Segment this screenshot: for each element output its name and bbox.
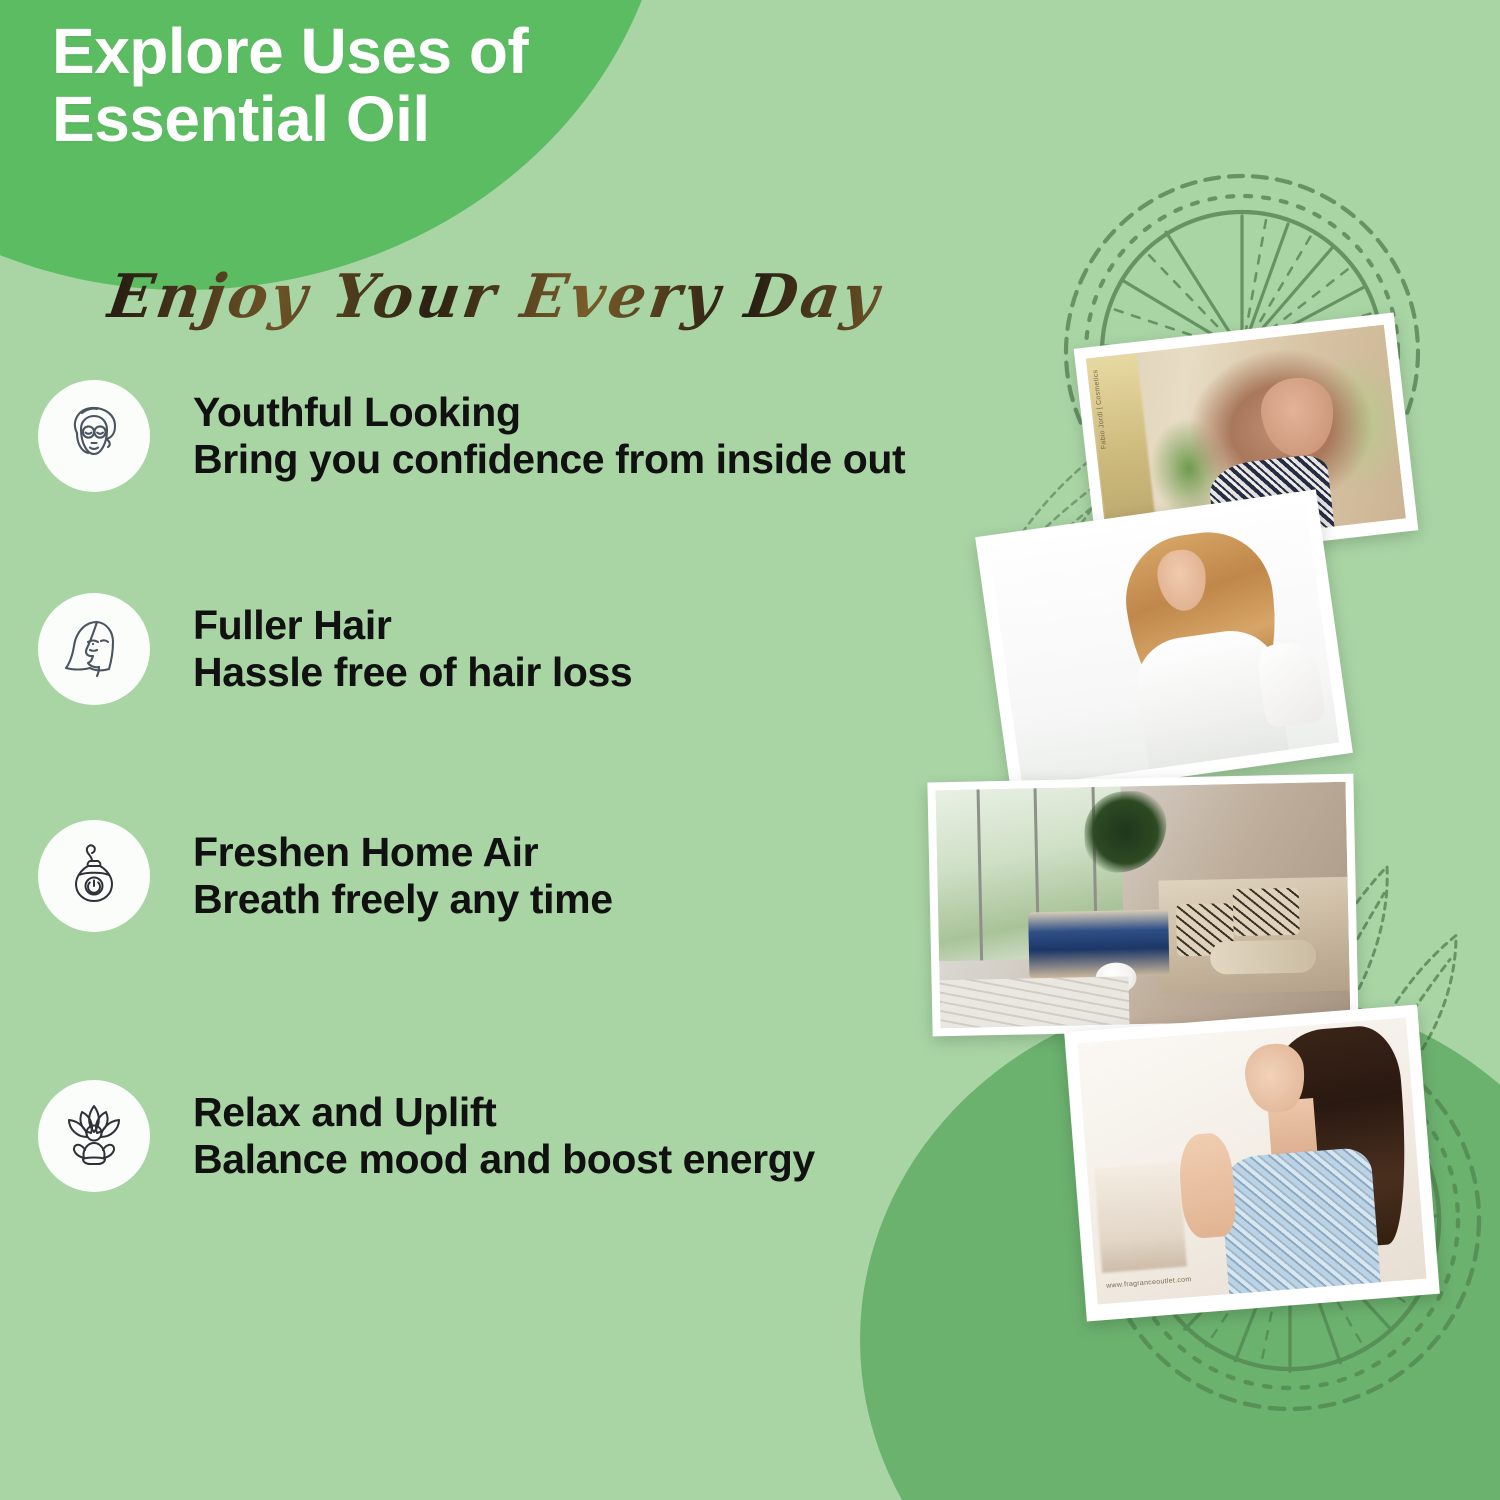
benefit-item-youthful-looking[interactable]: Youthful Looking Bring you confidence fr…: [0, 380, 905, 492]
benefit-heading: Fuller Hair: [193, 603, 632, 649]
long-hair-profile-icon: [57, 612, 131, 686]
benefit-icon-badge: [38, 593, 150, 705]
benefit-subheading: Bring you confidence from inside out: [193, 436, 905, 483]
benefit-icon-badge: [38, 820, 150, 932]
tagline-script-text: Enjoy Your Every Day: [103, 262, 885, 332]
photo-clothing-shape: [1219, 1146, 1381, 1299]
page-title-line-1: Explore Uses of: [52, 18, 528, 86]
blonde-hair-model-photo[interactable]: [975, 489, 1353, 800]
infographic-canvas: Explore Uses of Essential Oil Enjoy Your…: [0, 0, 1500, 1500]
benefit-text-block: Relax and Uplift Balance mood and boost …: [193, 1090, 815, 1183]
benefit-icon-badge: [38, 1080, 150, 1192]
photo-pillow-shape: [1209, 939, 1316, 975]
living-room-photo[interactable]: [927, 774, 1358, 1037]
perfume-woman-photo[interactable]: www.fragranceoutlet.com: [1064, 1005, 1440, 1322]
benefit-icon-badge: [38, 380, 150, 492]
benefit-heading: Freshen Home Air: [193, 830, 613, 876]
benefit-item-freshen-home-air[interactable]: Freshen Home Air Breath freely any time: [0, 820, 613, 932]
photo-pillow-shape: [1233, 887, 1300, 936]
aroma-diffuser-icon: [57, 839, 131, 913]
benefit-subheading: Balance mood and boost energy: [193, 1136, 815, 1183]
benefit-text-block: Fuller Hair Hassle free of hair loss: [193, 603, 632, 696]
benefit-text-block: Freshen Home Air Breath freely any time: [193, 830, 613, 923]
page-title: Explore Uses of Essential Oil: [52, 18, 528, 154]
benefit-item-relax-and-uplift[interactable]: Relax and Uplift Balance mood and boost …: [0, 1080, 815, 1192]
benefit-subheading: Hassle free of hair loss: [193, 649, 632, 696]
benefit-subheading: Breath freely any time: [193, 876, 613, 923]
page-title-line-2: Essential Oil: [52, 86, 528, 154]
photo-shelf-shape: [1094, 1161, 1188, 1272]
benefit-heading: Youthful Looking: [193, 390, 905, 436]
benefit-item-fuller-hair[interactable]: Fuller Hair Hassle free of hair loss: [0, 593, 632, 705]
face-mask-icon: [57, 399, 131, 473]
benefit-heading: Relax and Uplift: [193, 1090, 815, 1136]
photo-rug-shape: [940, 977, 1130, 1029]
lotus-meditation-icon: [56, 1098, 132, 1174]
benefit-text-block: Youthful Looking Bring you confidence fr…: [193, 390, 905, 483]
